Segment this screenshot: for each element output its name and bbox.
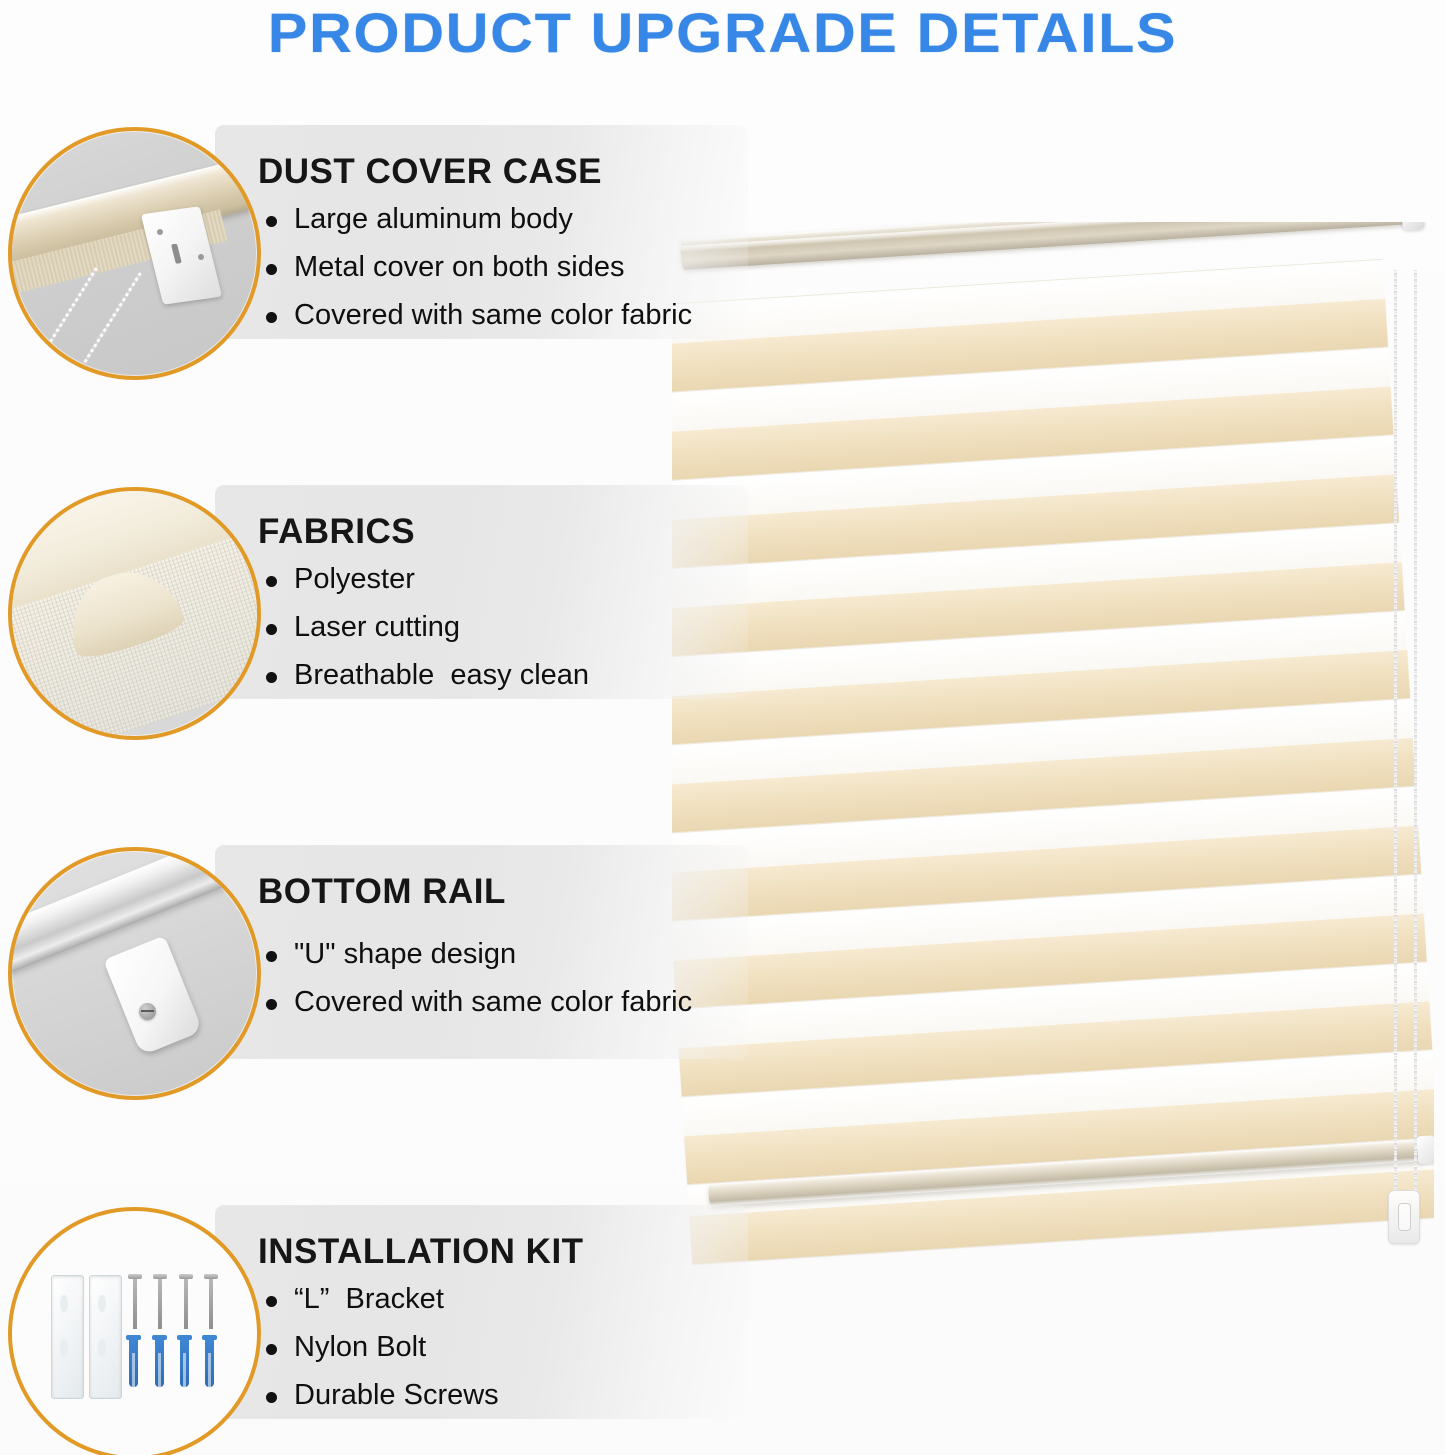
bead-cord-shape xyxy=(80,272,142,369)
photo-content xyxy=(12,131,257,376)
feature-block-fabrics: FABRICS Polyester Laser cutting Breathab… xyxy=(0,485,760,735)
feature-bullet-list: “L” Bracket Nylon Bolt Durable Screws xyxy=(262,1285,499,1429)
photo-content xyxy=(12,851,257,1096)
feature-bullet-list: Large aluminum body Metal cover on both … xyxy=(262,205,692,349)
dust-cover-headrail xyxy=(680,222,1410,270)
feature-title: INSTALLATION KIT xyxy=(258,1232,584,1272)
installation-kit-photo xyxy=(8,1207,261,1455)
screw-icon xyxy=(158,1277,162,1328)
feature-bullet-list: "U" shape design Covered with same color… xyxy=(262,940,692,1036)
screw-dot-icon xyxy=(157,229,163,235)
screw-icon xyxy=(133,1277,137,1328)
feature-bullet: "U" shape design xyxy=(262,940,692,969)
feature-bullet: Laser cutting xyxy=(262,613,589,642)
feature-block-bottom-rail: BOTTOM RAIL "U" shape design Covered wit… xyxy=(0,845,760,1095)
blind-body xyxy=(672,222,1434,1282)
photo-content xyxy=(12,1211,257,1455)
nylon-bolt-icon xyxy=(155,1338,164,1387)
nylon-bolt-icon xyxy=(180,1338,189,1387)
feature-bullet-list: Polyester Laser cutting Breathable easy … xyxy=(262,565,589,709)
photo-content xyxy=(12,491,257,736)
feature-bullet: “L” Bracket xyxy=(262,1285,499,1314)
feature-bullet: Covered with same color fabric xyxy=(262,301,692,330)
feature-bullet: Large aluminum body xyxy=(262,205,692,234)
nylon-bolt-icon xyxy=(129,1338,138,1387)
product-image-zebra-blind xyxy=(672,222,1434,1282)
feature-block-installation-kit: INSTALLATION KIT “L” Bracket Nylon Bolt … xyxy=(0,1205,760,1455)
dust-cover-case-photo xyxy=(8,127,261,380)
headrail-end-cap xyxy=(1400,222,1424,231)
beaded-chain-left-strand xyxy=(1394,270,1397,1200)
l-bracket-icon xyxy=(89,1275,122,1400)
feature-block-dust-cover-case: DUST COVER CASE Large aluminum body Meta… xyxy=(0,125,760,375)
screw-icon xyxy=(184,1277,188,1328)
screw-dot-icon xyxy=(198,254,204,260)
infographic-canvas: PRODUCT UPGRADE DETAILS xyxy=(0,0,1445,1455)
chain-tensioner-clip xyxy=(1388,1190,1420,1244)
nylon-bolt-icon xyxy=(205,1338,214,1387)
hardware-group xyxy=(51,1275,232,1398)
l-bracket-icon xyxy=(51,1275,84,1400)
bottom-rail-end-cap xyxy=(1416,1135,1434,1164)
beaded-chain-right-strand xyxy=(1414,270,1417,1200)
feature-title: FABRICS xyxy=(258,512,415,552)
feature-title: BOTTOM RAIL xyxy=(258,872,506,912)
bottom-rail-photo xyxy=(8,847,261,1100)
screw-icon xyxy=(209,1277,213,1328)
feature-bullet: Nylon Bolt xyxy=(262,1333,499,1362)
white-end-cap xyxy=(103,935,203,1055)
feature-bullet: Metal cover on both sides xyxy=(262,253,692,282)
feature-title: DUST COVER CASE xyxy=(258,152,602,192)
feature-bullet: Durable Screws xyxy=(262,1381,499,1410)
fabric-closeup-photo xyxy=(8,487,261,740)
page-title: PRODUCT UPGRADE DETAILS xyxy=(0,2,1445,64)
feature-bullet: Breathable easy clean xyxy=(262,661,589,690)
feature-bullet: Polyester xyxy=(262,565,589,594)
feature-bullet: Covered with same color fabric xyxy=(262,988,692,1017)
blind-stripe-group xyxy=(672,256,1434,1282)
